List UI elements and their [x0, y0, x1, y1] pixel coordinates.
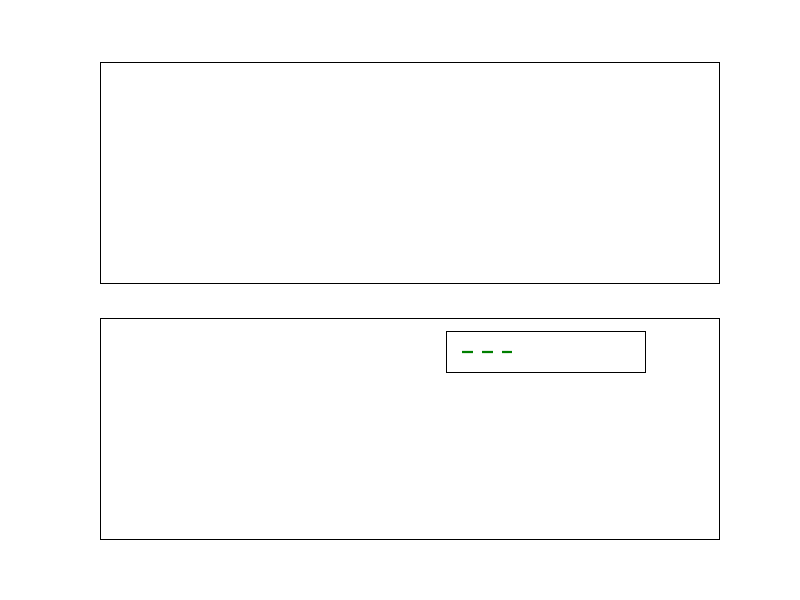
top-histogram-axes: [100, 62, 720, 284]
top-histogram-plot: [101, 63, 719, 283]
bottom-cumulative-axes: [100, 318, 720, 540]
figure-canvas: [0, 0, 800, 600]
mag-limit-legend-swatch: [459, 343, 515, 362]
legend: [446, 331, 646, 373]
